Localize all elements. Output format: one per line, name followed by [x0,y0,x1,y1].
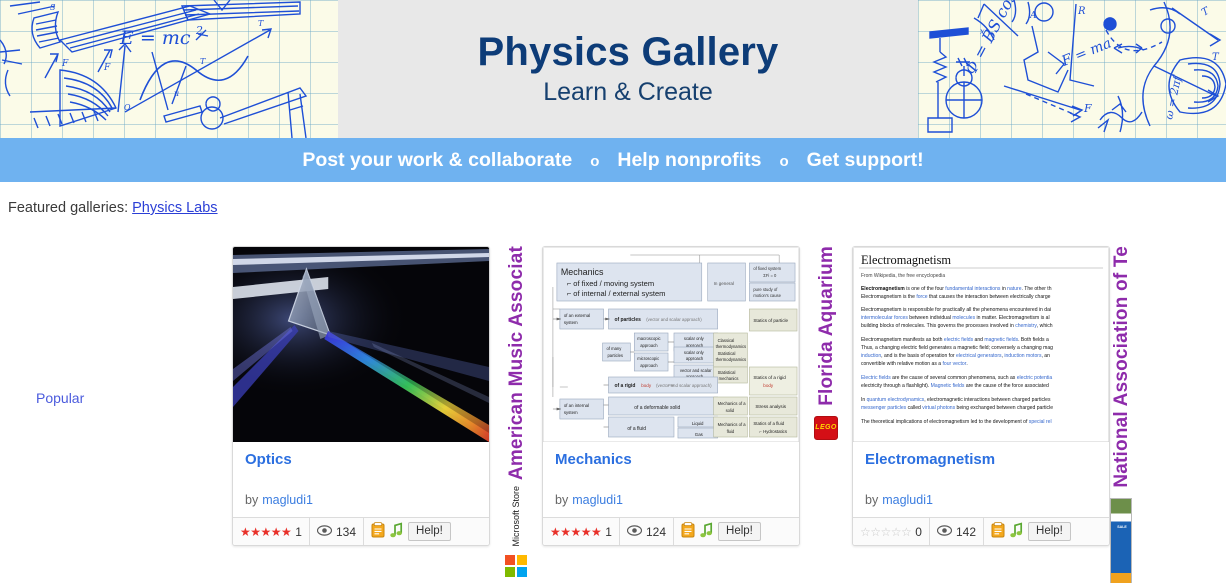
svg-text:system: system [564,320,578,325]
header-doodle-left: E = mc 2 F F O u T T S [0,0,338,138]
notepad-icon[interactable] [371,522,385,541]
ad-text-florida-aquarium: Florida Aquarium [817,246,836,406]
ad-banner-florida-aquarium[interactable]: Florida Aquarium LEGO [800,246,852,549]
svg-text:Statics of a fluid: Statics of a fluid [753,421,784,426]
card-title-electromagnetism[interactable]: Electromagnetism [865,451,1097,469]
svg-text:of an external: of an external [564,313,590,318]
notepad-icon[interactable] [991,522,1005,541]
featured-gallery-link-physics-labs[interactable]: Physics Labs [132,200,217,216]
main-navigation: Post your work & collaborate o Help nonp… [0,138,1226,182]
svg-text:2: 2 [195,24,203,37]
svg-text:⌐ Hydrostatics: ⌐ Hydrostatics [759,429,788,434]
svg-text:S: S [50,3,56,12]
svg-text:In quantum electrodynamics, el: In quantum electrodynamics, electromagne… [861,397,1051,403]
card-thumbnail-electromagnetism[interactable]: Electromagnetism From Wikipedia, the fre… [853,247,1109,442]
help-button-mechanics[interactable]: Help! [718,522,761,541]
card-thumbnail-mechanics[interactable]: Mechanics ⌐ of fixed / moving system ⌐ o… [543,247,799,442]
svg-text:approach: approach [686,356,704,361]
view-count-optics: 134 [336,525,356,539]
star-rating-icon: ★★★★★ [550,526,601,538]
nav-item-help-nonprofits[interactable]: Help nonprofits [617,149,761,172]
gallery-row: Popular [0,246,1226,549]
svg-text:F: F [61,59,69,69]
svg-text:Statistical: Statistical [718,351,736,356]
music-note-icon[interactable] [1010,522,1023,541]
rating-count-electromagnetism: 0 [915,525,922,539]
ad-text-national-association: National Association of Te [1112,246,1131,488]
nav-separator-1: o [572,153,617,170]
ad-banner-american-music-association[interactable]: American Music Associat Microsoft Store [490,246,542,549]
svg-text:Electromagnetism is one of the: Electromagnetism is one of the four fund… [861,286,1052,292]
svg-text:of a deformable solid: of a deformable solid [634,405,680,411]
svg-text:Liquid: Liquid [692,421,704,426]
gallery-card-electromagnetism[interactable]: Electromagnetism From Wikipedia, the fre… [852,246,1110,546]
svg-text:Statics of particle: Statics of particle [753,318,788,323]
svg-text:F = ma: F = ma [1059,35,1114,70]
svg-text:Gas: Gas [695,432,704,437]
windows-logo-icon [505,555,527,577]
svg-text:Electromagnetism manifests as: Electromagnetism manifests as both elect… [861,337,1049,343]
svg-text:body: body [641,383,652,388]
star-rating-icon: ★★★★★ [240,526,291,538]
card-author-optics[interactable]: magludi1 [262,493,313,507]
svg-text:A: A [1029,11,1037,21]
svg-text:F: F [1083,102,1092,115]
svg-text:intermolecular forces between: intermolecular forces between individual… [861,315,1050,321]
svg-text:macroscopic: macroscopic [637,336,660,341]
svg-text:messenger particles called vir: messenger particles called virtual photo… [861,405,1053,411]
eye-icon [627,525,642,539]
svg-text:solid: solid [726,408,735,413]
svg-text:convertible with relative moti: convertible with relative motion as a fo… [861,361,968,367]
svg-text:Stress analysis: Stress analysis [755,404,786,409]
view-count-electromagnetism: 142 [956,525,976,539]
physics-doodles-right: Φ = BS cosα F = ma F ω = 2πf T A R T x [918,0,1226,138]
svg-text:Classical: Classical [718,338,735,343]
card-author-line-optics: bymagludi1 [245,493,477,507]
svg-text:E = mc: E = mc [119,27,191,49]
rating-count-optics: 1 [295,525,302,539]
svg-text:ΣFi = 0: ΣFi = 0 [763,273,777,278]
card-footer-mechanics: ★★★★★ 1 124 Help! [543,517,799,545]
rating-cell-mechanics[interactable]: ★★★★★ 1 [543,518,620,545]
featured-galleries-label: Featured galleries: [8,200,128,216]
card-title-mechanics[interactable]: Mechanics [555,451,787,469]
svg-text:Statics of a rigid: Statics of a rigid [753,375,786,380]
svg-text:of a fluid: of a fluid [627,426,646,432]
svg-text:Mechanics: Mechanics [561,267,604,277]
sidebar-item-popular[interactable]: Popular [36,390,84,406]
lego-logo-icon: LEGO [814,416,838,440]
views-cell-mechanics: 124 [620,518,674,545]
popular-column: Popular [0,246,232,549]
svg-text:F: F [103,63,111,73]
svg-text:(vector and scalar approach): (vector and scalar approach) [656,383,712,388]
card-body-mechanics: Mechanics bymagludi1 [543,442,799,517]
gallery-card-mechanics[interactable]: Mechanics ⌐ of fixed / moving system ⌐ o… [542,246,800,546]
card-author-electromagnetism[interactable]: magludi1 [882,493,933,507]
by-label: by [865,493,878,507]
rating-cell-optics[interactable]: ★★★★★ 1 [233,518,310,545]
actions-cell-electromagnetism: Help! [984,518,1078,545]
svg-text:T: T [200,57,206,66]
card-author-line-electromagnetism: bymagludi1 [865,493,1097,507]
eye-icon [937,525,952,539]
header-title-block: Physics Gallery Learn & Create [338,0,918,138]
svg-text:From Wikipedia, the free encyc: From Wikipedia, the free encyclopedia [861,273,945,279]
actions-cell-mechanics: Help! [674,518,768,545]
svg-text:⌐ of fixed / moving syst: ⌐ of fixed / moving system [567,279,654,288]
actions-cell-optics: Help! [364,518,458,545]
card-thumbnail-prism[interactable] [233,247,489,442]
mechanics-flowchart-image: Mechanics ⌐ of fixed / moving system ⌐ o… [543,247,799,442]
svg-text:body: body [763,383,774,388]
views-cell-electromagnetism: 142 [930,518,984,545]
physics-doodles-left: E = mc 2 F F O u T T S [0,0,338,138]
svg-text:x: x [980,27,985,36]
page-title: Physics Gallery [478,31,779,73]
nav-item-get-support[interactable]: Get support! [807,149,924,172]
svg-text:(vector and scalar approach): (vector and scalar approach) [646,317,702,322]
music-note-icon[interactable] [700,522,713,541]
svg-text:Electric fields are the cause: Electric fields are the cause of several… [861,375,1052,381]
svg-text:thermodynamics: thermodynamics [716,357,746,362]
svg-text:of many: of many [607,346,623,351]
notepad-icon[interactable] [681,522,695,541]
nav-separator-2: o [761,153,806,170]
ad-banner-national-association[interactable]: National Association of Te SALE [1110,246,1216,549]
nav-item-post-your-work[interactable]: Post your work & collaborate [302,149,572,172]
svg-text:Electromagnetism is responsibl: Electromagnetism is responsible for prac… [861,307,1051,313]
star-rating-icon: ☆☆☆☆☆ [860,526,911,538]
svg-text:Thus, a changing electric fiel: Thus, a changing electric field generate… [861,345,1053,351]
svg-text:microscopic: microscopic [637,356,659,361]
svg-text:of a rigid: of a rigid [614,383,635,389]
svg-text:induction, and is the basis of: induction, and is the basis of operation… [861,353,1050,359]
views-cell-optics: 134 [310,518,364,545]
rating-cell-electromagnetism[interactable]: ☆☆☆☆☆ 0 [853,518,930,545]
card-footer-electromagnetism: ☆☆☆☆☆ 0 142 Help! [853,517,1109,545]
featured-galleries-line: Featured galleries: Physics Labs [0,182,1226,216]
svg-text:Mechanics of a: Mechanics of a [718,401,747,406]
ad-text-american-music: American Music Associat [507,246,526,480]
svg-text:electricity through a flashlig: electricity through a flashlight). Magne… [861,383,1049,389]
svg-text:T: T [1212,52,1220,63]
eye-icon [317,525,332,539]
card-body-optics: Optics bymagludi1 [233,442,489,517]
by-label: by [555,493,568,507]
svg-text:of fixed system: of fixed system [753,266,781,271]
svg-text:u: u [174,89,179,98]
wikipedia-article-image: Electromagnetism From Wikipedia, the fre… [853,247,1109,442]
svg-text:The theoretical implications o: The theoretical implications of electrom… [861,419,1052,425]
svg-text:fluid: fluid [727,429,735,434]
svg-text:motion's cause: motion's cause [753,293,781,298]
prism-dispersion-image [233,247,489,442]
card-title-optics[interactable]: Optics [245,451,477,469]
svg-text:thermodynamics: thermodynamics [716,344,746,349]
svg-text:T: T [1200,5,1212,19]
card-author-line-mechanics: bymagludi1 [555,493,787,507]
view-count-mechanics: 124 [646,525,666,539]
svg-text:ω = 2πf: ω = 2πf [1162,74,1184,121]
svg-text:R: R [1077,6,1086,17]
svg-text:scalar only: scalar only [684,336,705,341]
help-button-electromagnetism[interactable]: Help! [1028,522,1071,541]
card-body-electromagnetism: Electromagnetism bymagludi1 [853,442,1109,517]
svg-text:approach: approach [640,343,658,348]
by-label: by [245,493,258,507]
svg-text:vector and scalar: vector and scalar [680,368,712,373]
svg-text:mechanics: mechanics [719,376,739,381]
svg-text:Statistical: Statistical [718,370,736,375]
svg-text:building blocks of molecules.: building blocks of molecules. This gover… [861,323,1053,329]
card-author-mechanics[interactable]: magludi1 [572,493,623,507]
help-button-optics[interactable]: Help! [408,522,451,541]
svg-text:O: O [124,103,131,112]
svg-text:T: T [258,19,264,28]
site-header: E = mc 2 F F O u T T S [0,0,1226,138]
music-note-icon[interactable] [390,522,403,541]
svg-text:of an internal: of an internal [564,403,589,408]
svg-text:particles: particles [607,353,622,358]
svg-text:Electromagnetism: Electromagnetism [861,253,951,267]
card-footer-optics: ★★★★★ 1 134 Help! [233,517,489,545]
svg-text:of particles: of particles [614,317,641,323]
svg-text:⌐ of internal / external syst: ⌐ of internal / external system [567,289,666,298]
svg-text:In general: In general [714,281,734,286]
svg-text:Electromagnetism is the force: Electromagnetism is the force that cause… [861,294,1051,300]
header-doodle-right: Φ = BS cosα F = ma F ω = 2πf T A R T x [918,0,1226,138]
svg-text:system: system [564,410,578,415]
svg-text:approach: approach [640,363,658,368]
site-tagline: Learn & Create [543,79,713,107]
book-product-ad-icon: SALE [1110,498,1132,583]
ad-brand-microsoft-store: Microsoft Store [511,486,521,547]
svg-text:pure study of: pure study of [753,287,778,292]
gallery-card-optics[interactable]: Optics bymagludi1 ★★★★★ 1 134 [232,246,490,546]
rating-count-mechanics: 1 [605,525,612,539]
svg-text:Mechanics of a: Mechanics of a [718,422,747,427]
svg-text:scalar only: scalar only [684,350,705,355]
